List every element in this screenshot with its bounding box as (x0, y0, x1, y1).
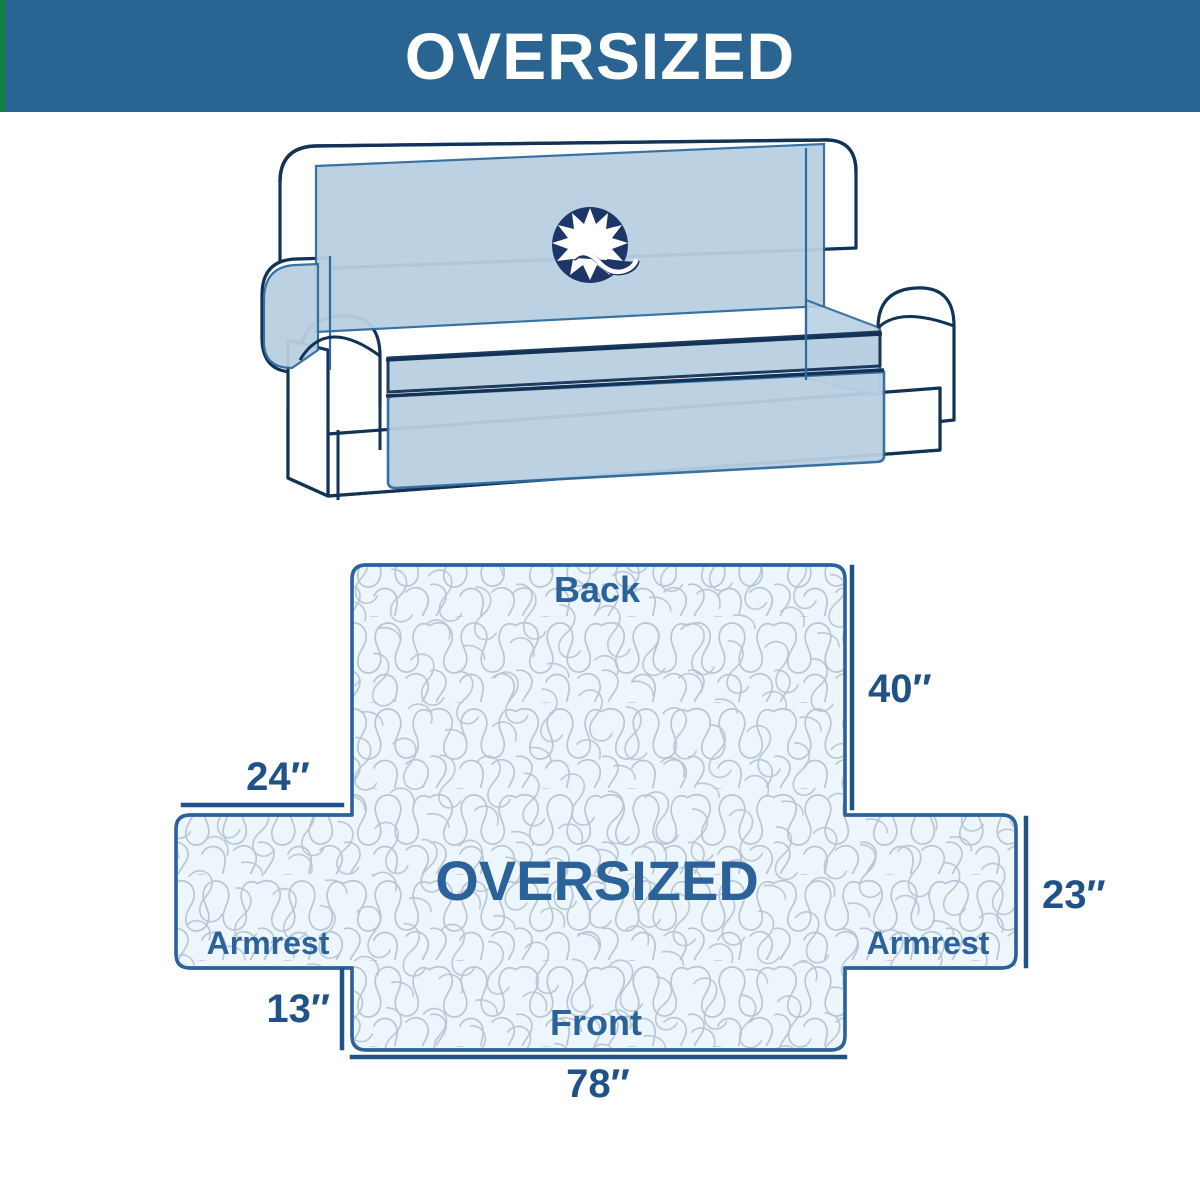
header-edge-accent (0, 0, 5, 112)
slipcover-left-drape (264, 264, 318, 368)
page-header: OVERSIZED (0, 0, 1200, 112)
dimension-back-height: 40″ (852, 567, 932, 808)
panel-label-armrest-right: Armrest (867, 925, 990, 961)
panel-label-front: Front (550, 1002, 642, 1043)
dimension-value-78: 78″ (566, 1062, 630, 1106)
dimension-value-13: 13″ (266, 987, 330, 1031)
dimension-overall-width: 78″ (352, 1057, 845, 1106)
panel-label-armrest-left: Armrest (207, 925, 330, 961)
panel-label-back: Back (554, 569, 641, 610)
dimension-value-24: 24″ (246, 755, 310, 799)
dimension-back-depth: 24″ (183, 755, 342, 805)
dimension-value-40: 40″ (868, 667, 932, 711)
diagram-center-label: OVERSIZED (435, 849, 759, 912)
sofa-illustration (0, 120, 1200, 530)
dimension-front-drop: 13″ (266, 970, 342, 1048)
dimension-diagram: Back OVERSIZED Front Armrest Armrest 24″… (0, 530, 1200, 1200)
dimension-value-23: 23″ (1042, 873, 1106, 917)
page-title: OVERSIZED (405, 23, 795, 89)
dimension-armrest-depth: 23″ (1026, 818, 1106, 966)
cover-plan-shape (176, 565, 1016, 1050)
